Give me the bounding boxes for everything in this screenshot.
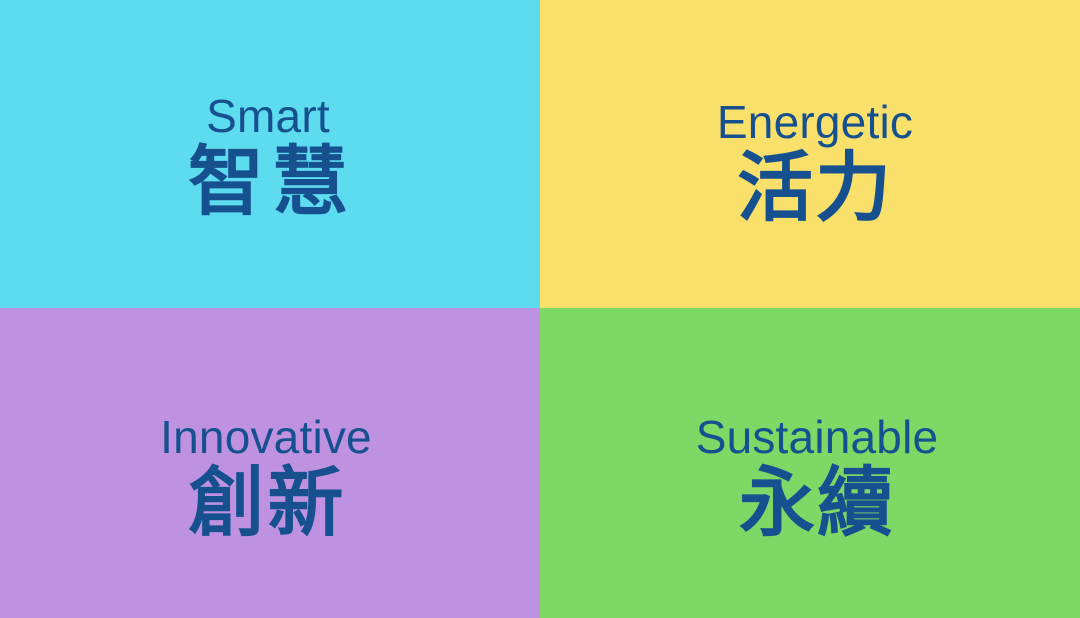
label-en-smart: Smart [206, 92, 330, 140]
label-en-innovative: Innovative [160, 413, 372, 461]
quadrant-smart[interactable]: Smart 智慧 [0, 0, 540, 308]
label-en-sustainable: Sustainable [696, 413, 939, 461]
brand-values-grid: Smart 智慧 Energetic 活力 Innovative 創新 Sust… [0, 0, 1080, 618]
label-en-energetic: Energetic [717, 98, 913, 146]
label-block-energetic: Energetic 活力 [717, 98, 913, 230]
quadrant-innovative[interactable]: Innovative 創新 [0, 308, 540, 618]
label-block-innovative: Innovative 創新 [160, 413, 372, 545]
label-block-smart: Smart 智慧 [180, 92, 356, 224]
label-block-sustainable: Sustainable 永續 [696, 413, 939, 545]
label-cjk-smart: 智慧 [180, 142, 356, 224]
quadrant-sustainable[interactable]: Sustainable 永續 [540, 308, 1080, 618]
label-cjk-innovative: 創新 [185, 463, 346, 545]
label-cjk-energetic: 活力 [737, 148, 893, 230]
label-cjk-sustainable: 永續 [739, 463, 895, 545]
quadrant-energetic[interactable]: Energetic 活力 [540, 0, 1080, 308]
